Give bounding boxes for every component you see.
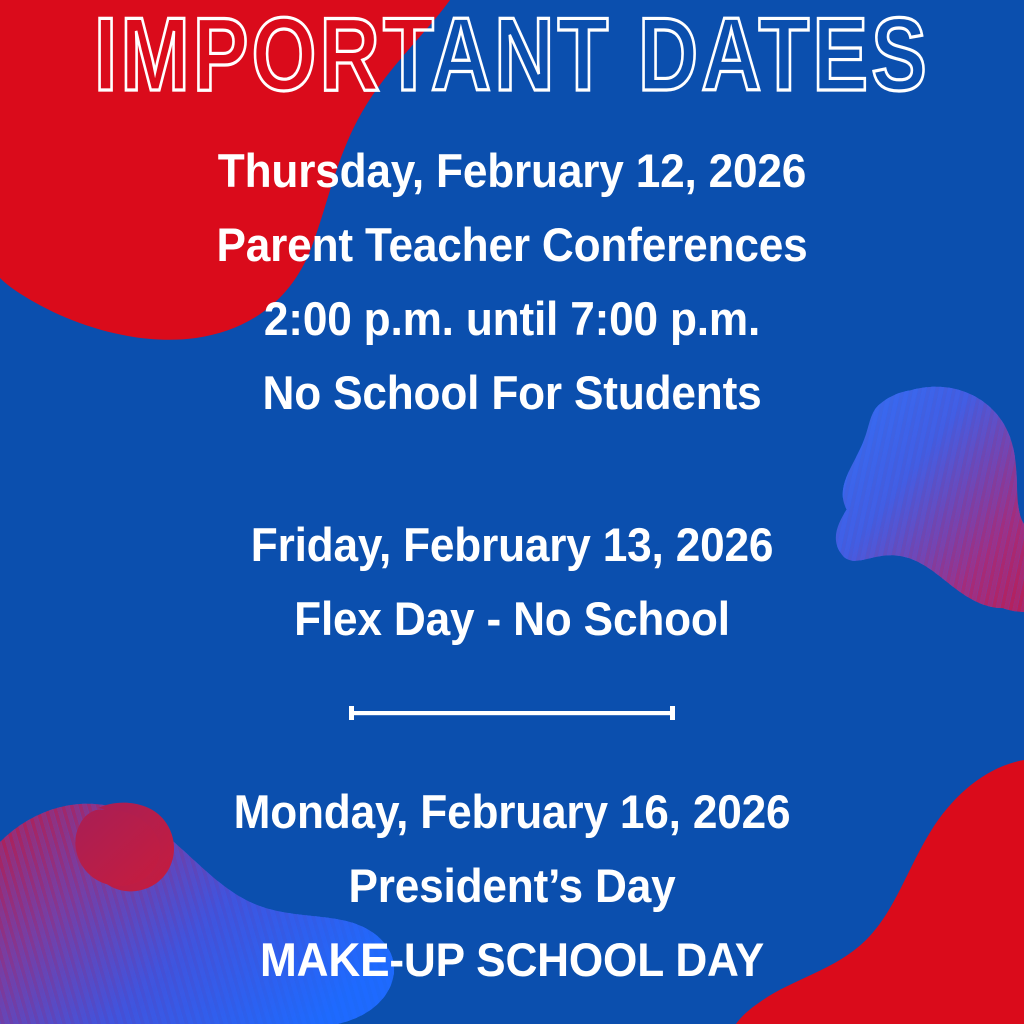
date-block-friday: Friday, February 13, 2026 Flex Day - No … bbox=[0, 508, 1024, 656]
date-line: Thursday, February 12, 2026 bbox=[31, 134, 994, 208]
date-block-thursday: Thursday, February 12, 2026 Parent Teach… bbox=[0, 134, 1024, 430]
time-line: 2:00 p.m. until 7:00 p.m. bbox=[31, 282, 994, 356]
divider-cap-left bbox=[349, 706, 354, 720]
date-line: Friday, February 13, 2026 bbox=[31, 508, 994, 582]
poster-content: Thursday, February 12, 2026 Parent Teach… bbox=[0, 0, 1024, 1024]
event-line: Flex Day - No School bbox=[31, 582, 994, 656]
section-divider bbox=[347, 702, 677, 724]
divider-cap-right bbox=[670, 706, 675, 720]
date-block-monday: Monday, February 16, 2026 President’s Da… bbox=[0, 775, 1024, 997]
note-line: MAKE-UP SCHOOL DAY bbox=[31, 923, 994, 997]
event-line: Parent Teacher Conferences bbox=[31, 208, 994, 282]
divider-bar bbox=[351, 711, 673, 715]
date-line: Monday, February 16, 2026 bbox=[31, 775, 994, 849]
event-line: President’s Day bbox=[31, 849, 994, 923]
note-line: No School For Students bbox=[31, 356, 994, 430]
important-dates-poster: IMPORTANT DATES Thursday, February 12, 2… bbox=[0, 0, 1024, 1024]
